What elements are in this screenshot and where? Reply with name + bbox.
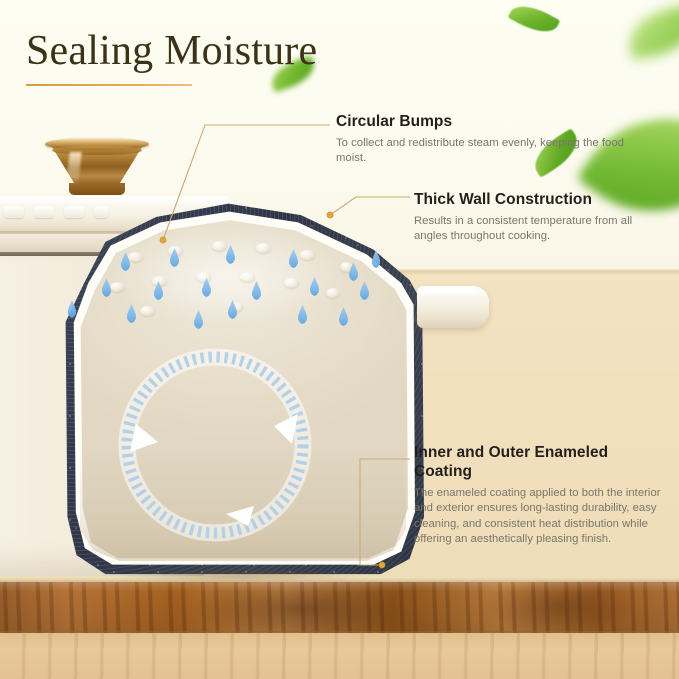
circular-bump: [128, 252, 143, 262]
pot-ground-shadow: [64, 568, 416, 584]
callout-inner-outer-enameled-coating: Inner and Outer Enameled Coating The ena…: [414, 443, 662, 548]
pot-knob-foot: [69, 183, 125, 195]
callout-body: The enameled coating applied to both the…: [414, 486, 662, 548]
circular-bump: [196, 272, 211, 282]
circular-bump: [110, 282, 125, 292]
product-illustration: [0, 0, 679, 679]
circular-bump: [140, 306, 155, 316]
circular-bump: [212, 241, 227, 251]
pot-knob-cap-inner: [52, 146, 142, 155]
callout-circular-bumps: Circular Bumps To collect and redistribu…: [336, 112, 626, 167]
callout-thick-wall-construction: Thick Wall Construction Results in a con…: [414, 190, 664, 245]
circular-bump: [326, 288, 340, 298]
circular-bump: [300, 250, 315, 260]
circular-bump: [284, 278, 299, 288]
callout-heading: Circular Bumps: [336, 112, 626, 131]
callout-body: Results in a consistent temperature from…: [414, 214, 664, 245]
callout-heading: Inner and Outer Enameled Coating: [414, 443, 662, 481]
infographic-canvas: Sealing Moisture: [0, 0, 679, 679]
steam-circulation-ring: [100, 330, 330, 560]
pot-handle-highlight: [421, 289, 477, 297]
circular-bump: [240, 272, 255, 282]
pot-lid-ridge: [4, 206, 24, 218]
circular-bump: [256, 243, 271, 253]
callout-body: To collect and redistribute steam evenly…: [336, 136, 626, 167]
callout-heading: Thick Wall Construction: [414, 190, 664, 209]
pot-lid-ridge: [34, 206, 54, 218]
